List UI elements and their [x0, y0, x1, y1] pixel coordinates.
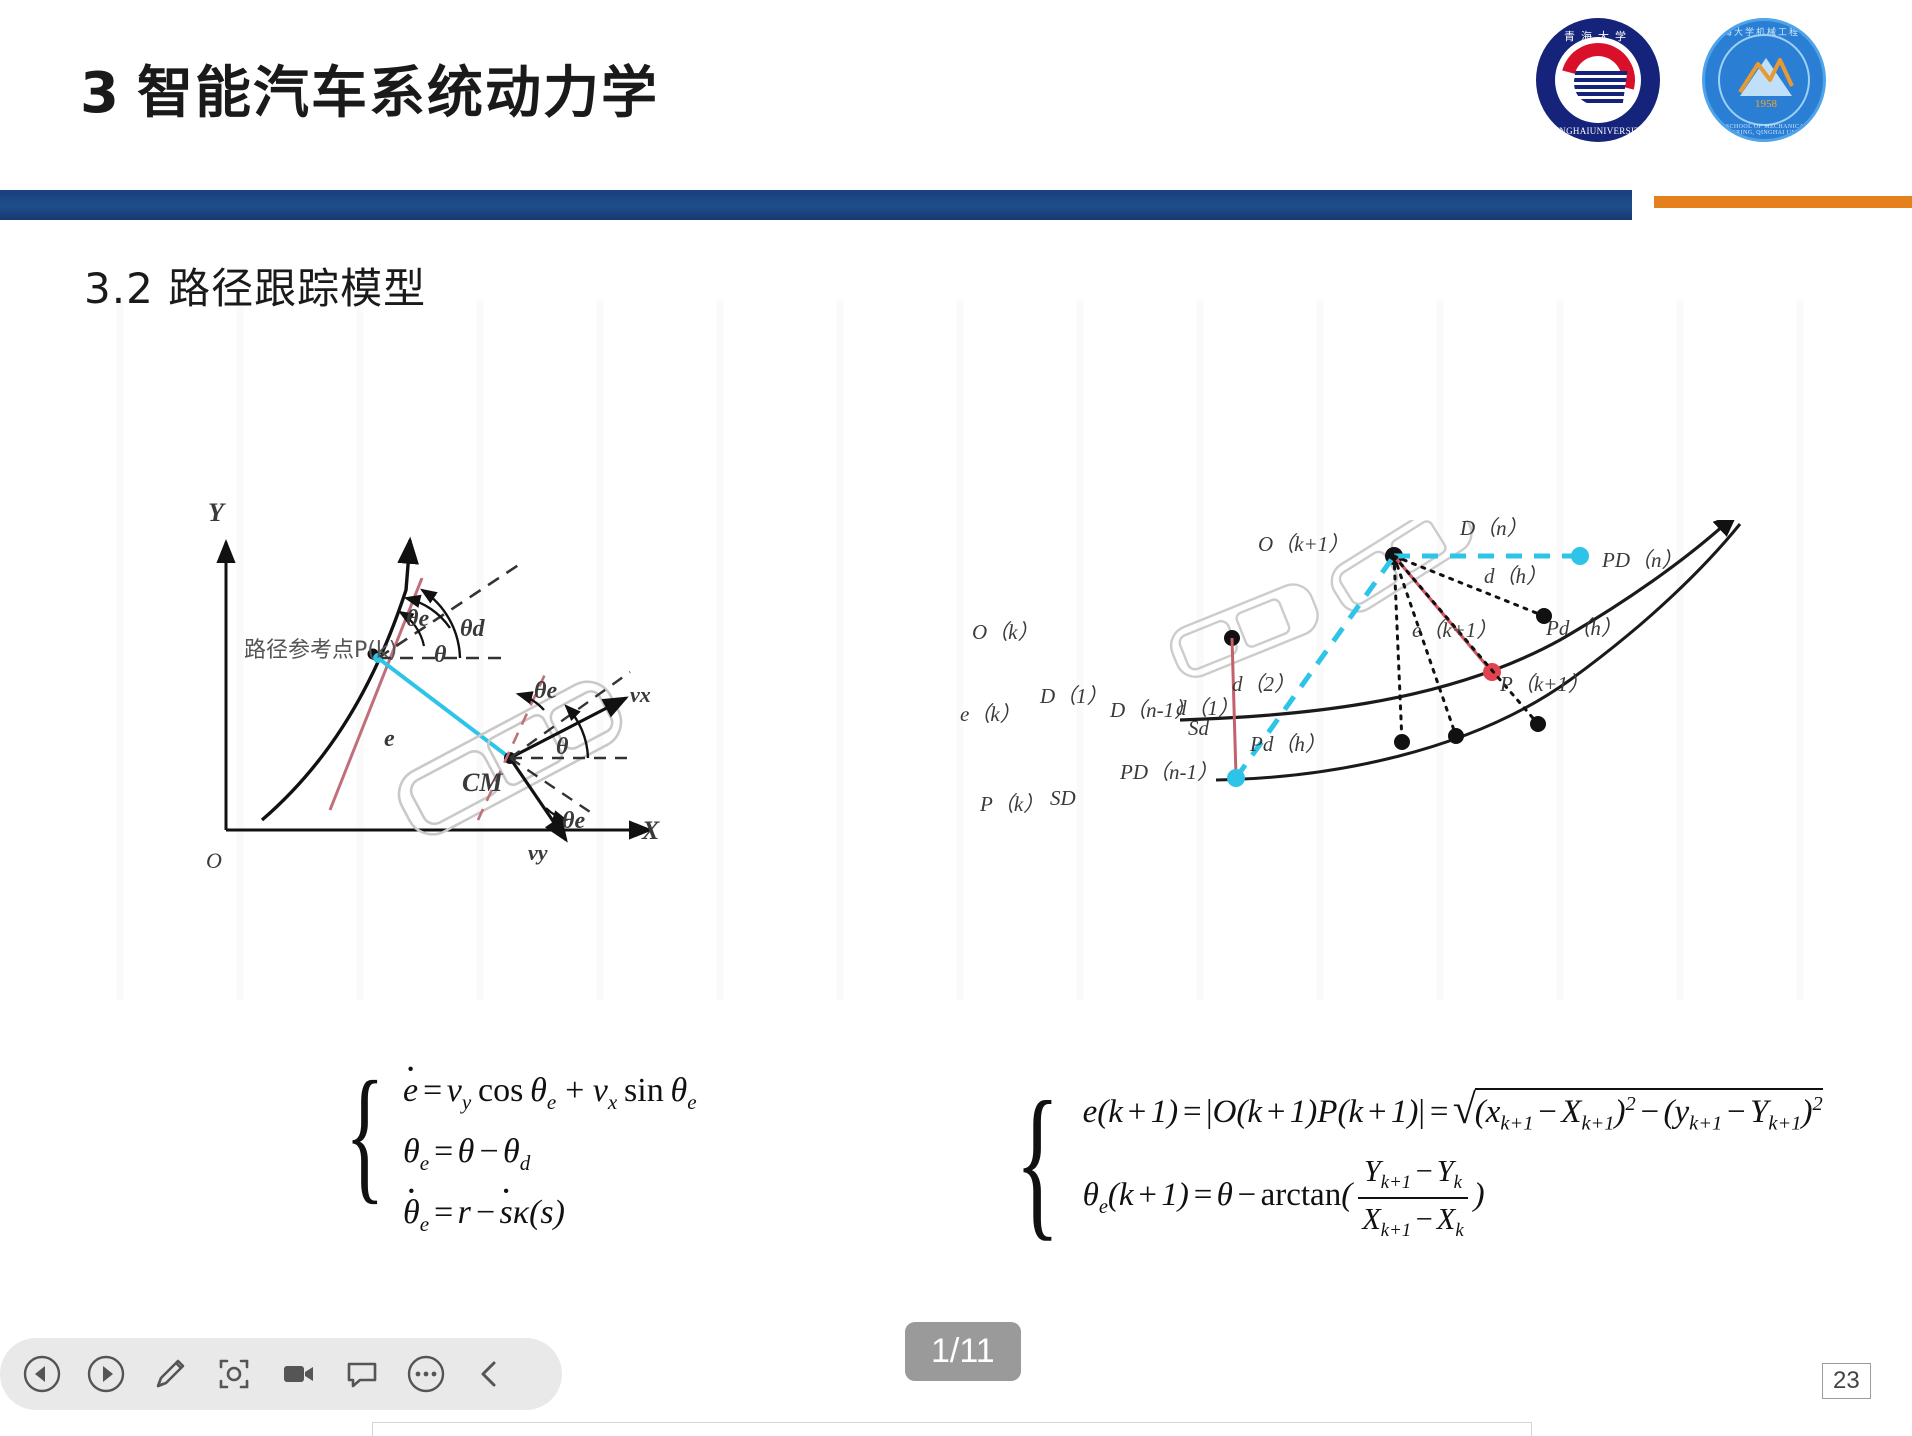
section-title: 智能汽车系统动力学	[137, 61, 659, 126]
label-d-small-2: d（2）	[1232, 668, 1295, 698]
page-title: 3智能汽车系统动力学	[80, 48, 659, 129]
pen-tool-button[interactable]	[140, 1344, 200, 1404]
header-divider-blue	[0, 190, 1632, 220]
label-pd-h-upper: Pd（h）	[1546, 612, 1622, 642]
axis-label-x: X	[642, 816, 659, 846]
theta-vehicle-label: θ	[556, 734, 568, 761]
label-e-k1: e（k+1）	[1412, 614, 1497, 644]
theta-e-top-label: θe	[406, 606, 429, 633]
label-d-big-1: D（1）	[1040, 680, 1108, 710]
axis-origin-label: O	[206, 848, 222, 874]
next-icon	[84, 1352, 128, 1396]
label-pd-n-1: PD（n-1）	[1120, 756, 1218, 786]
header-divider-orange	[1654, 196, 1912, 208]
presentation-toolbar[interactable]	[0, 1338, 562, 1410]
sme-logo-year: 1958	[1720, 98, 1810, 110]
discrete-error-dynamics-equation: { e(k + 1) = |O(k + 1)P(k + 1)| = (xk+1 …	[1015, 1088, 1823, 1242]
video-camera-icon	[278, 1354, 318, 1394]
prev-icon	[20, 1352, 64, 1396]
label-o-k: O（k）	[972, 616, 1039, 646]
speech-bubble-icon	[342, 1354, 382, 1394]
right-equation-brace: {	[1015, 1088, 1060, 1242]
path-tracking-error-diagram: Y X O 路径参考点P(k) e θe θd θ θe θ θe CM vx …	[210, 520, 850, 940]
screenshot-icon	[214, 1354, 254, 1394]
bottom-panel-strip	[372, 1422, 1532, 1436]
velocity-x-label: vx	[630, 682, 651, 708]
slide-canvas: 3智能汽车系统动力学 青海大学 QINGHAIUNIVERSITY 青海大学机械…	[0, 0, 1912, 1436]
record-button[interactable]	[268, 1344, 328, 1404]
qhu-logo-en-text: QINGHAIUNIVERSITY	[1536, 126, 1660, 136]
sme-logo-en-text: SCHOOL OF MECHANICAL ENGINEERING, QINGHA…	[1705, 124, 1826, 136]
page-indicator: 1/11	[905, 1322, 1021, 1381]
theta-e-lower-label: θe	[562, 808, 585, 835]
comment-button[interactable]	[332, 1344, 392, 1404]
center-of-mass-label: CM	[462, 768, 502, 798]
theta-e-vehicle-label: θe	[534, 678, 557, 705]
axis-label-y: Y	[208, 498, 224, 528]
school-of-mechanical-engineering-logo: 青海大学机械工程学院 1958 SCHOOL OF MECHANICAL ENG…	[1702, 18, 1826, 142]
screenshot-button[interactable]	[204, 1344, 264, 1404]
equation-line-3: θe = r − sκ(s)	[403, 1192, 697, 1237]
mountain-icon	[1736, 56, 1796, 96]
continuous-error-dynamics-equation: { e = vy cos θe + vx sin θe θe = θ − θd …	[345, 1070, 697, 1237]
equation-line-2: θe = θ − θd	[403, 1131, 697, 1176]
label-sd-lower: SD	[1050, 786, 1076, 811]
previous-slide-button[interactable]	[12, 1344, 72, 1404]
error-distance-label: e	[384, 726, 395, 753]
equation-line-2: θe(k + 1) = θ − arctan(Yk+1 − YkXk+1 − X…	[1083, 1153, 1823, 1242]
theta-label: θ	[434, 642, 446, 669]
discrete-path-tracking-diagram: O（k） O（k+1） P（k） P（k+1） e（k） e（k+1） D（1）…	[1140, 520, 1840, 880]
equation-line-1: e(k + 1) = |O(k + 1)P(k + 1)| = (xk+1 − …	[1083, 1088, 1823, 1137]
section-number: 3	[80, 61, 121, 126]
slide-header: 3智能汽车系统动力学 青海大学 QINGHAIUNIVERSITY 青海大学机械…	[0, 0, 1912, 200]
label-e-k: e（k）	[960, 698, 1021, 728]
qinghai-university-logo: 青海大学 QINGHAIUNIVERSITY	[1536, 18, 1660, 142]
label-pd-n: PD（n）	[1602, 544, 1683, 574]
left-equation-brace: {	[345, 1070, 385, 1237]
reference-point-label: 路径参考点P(k)	[244, 632, 397, 664]
section-subtitle: 3.2 路径跟踪模型	[84, 255, 426, 316]
next-slide-button[interactable]	[76, 1344, 136, 1404]
equation-line-1: e = vy cos θe + vx sin θe	[403, 1070, 697, 1115]
collapse-toolbar-button[interactable]	[460, 1344, 520, 1404]
more-options-button[interactable]	[396, 1344, 456, 1404]
label-o-k1: O（k+1）	[1258, 528, 1349, 558]
label-p-k: P（k）	[980, 788, 1044, 818]
left-diagram-svg	[210, 520, 850, 940]
velocity-y-label: vy	[528, 840, 548, 866]
theta-d-label: θd	[460, 616, 484, 643]
label-sd-upper: Sd	[1188, 716, 1209, 741]
label-d-big-n: D（n）	[1460, 512, 1528, 542]
label-p-k1: P（k+1）	[1500, 668, 1589, 698]
chevron-left-icon	[473, 1357, 507, 1391]
label-pd-h-lower: Pd（h）	[1250, 728, 1326, 758]
pen-icon	[150, 1354, 190, 1394]
label-d-small-h: d（h）	[1484, 560, 1547, 590]
slide-number-badge: 23	[1822, 1363, 1871, 1399]
ellipsis-icon	[404, 1352, 448, 1396]
